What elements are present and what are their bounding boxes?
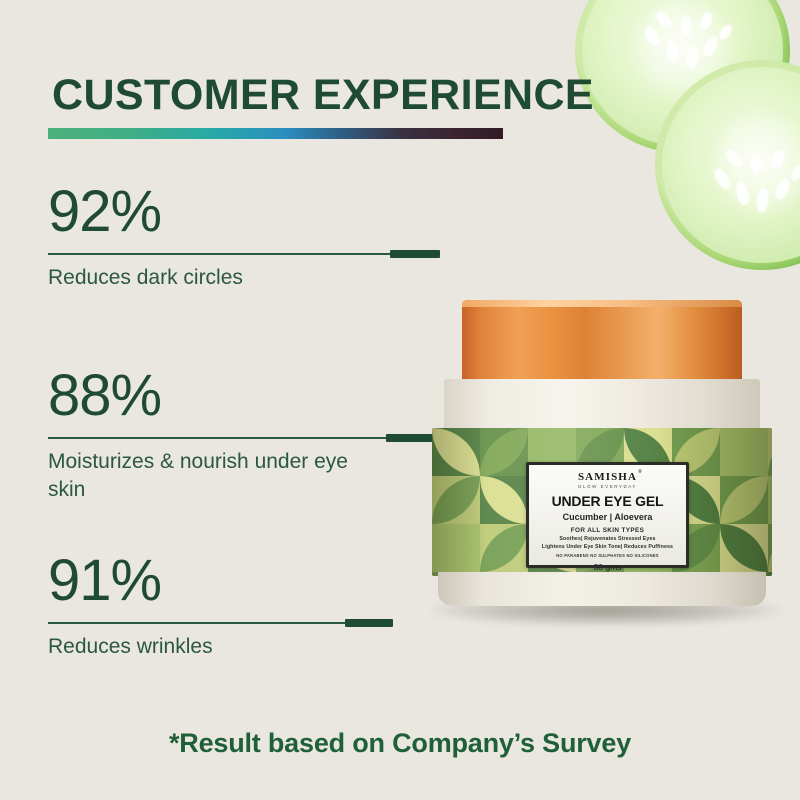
stat-rule	[48, 250, 243, 258]
cucumber-seed	[701, 35, 720, 59]
cucumber-seed	[680, 16, 691, 36]
stat-percent: 88%	[48, 367, 388, 425]
cucumber-seed	[735, 181, 751, 206]
stat-rule-cap	[390, 250, 440, 258]
cucumber-seed	[717, 23, 734, 41]
brand-name: SAMISHA®	[578, 471, 637, 483]
stat-rule-line	[48, 253, 440, 255]
cucumber-seed	[665, 39, 680, 63]
stat-caption: Moisturizes & nourish under eye skin	[48, 448, 388, 504]
stat-block-1: 92% Reduces dark circles	[48, 183, 243, 292]
cucumber-flesh	[582, 0, 783, 146]
stat-percent: 91%	[48, 552, 213, 610]
stat-rule-line	[48, 437, 438, 439]
cucumber-seed	[712, 167, 733, 191]
cucumber-seed	[654, 9, 674, 30]
cucumber-decoration	[540, 0, 800, 310]
jar-body-upper	[444, 379, 760, 431]
cucumber-slice-1-icon	[575, 0, 790, 153]
stat-caption: Reduces wrinkles	[48, 633, 213, 661]
stat-rule	[48, 619, 213, 627]
cucumber-seed	[685, 45, 699, 69]
skin-types-text: FOR ALL SKIN TYPES	[571, 527, 644, 534]
stat-rule-line	[48, 622, 393, 624]
jar-lid	[462, 300, 742, 382]
net-weight: 30 gms	[594, 562, 622, 572]
cucumber-seed	[643, 25, 663, 49]
cucumber-core	[627, 0, 739, 104]
product-jar: SAMISHA® GLOW EVERYDAY UNDER EYE GEL Cuc…	[418, 300, 786, 625]
stat-percent: 92%	[48, 183, 243, 241]
stat-rule	[48, 434, 388, 442]
jar-body-lower	[438, 572, 766, 606]
cucumber-rim	[575, 0, 790, 153]
cucumber-seed	[750, 154, 762, 175]
stat-rule-cap	[345, 619, 393, 627]
title-gradient-divider	[48, 128, 503, 139]
stat-block-3: 91% Reduces wrinkles	[48, 552, 213, 661]
product-label: SAMISHA® GLOW EVERYDAY UNDER EYE GEL Cuc…	[526, 462, 689, 568]
cucumber-seed	[756, 187, 769, 212]
cucumber-core	[707, 110, 800, 219]
cucumber-rim	[655, 60, 800, 270]
cucumber-slice-2-icon	[655, 60, 800, 270]
free-from-claims: NO PARABENS NO SULPHATES NO SILICONES	[556, 553, 659, 558]
stat-caption: Reduces dark circles	[48, 264, 243, 292]
brand-name-text: SAMISHA	[578, 471, 637, 483]
promotional-poster: CUSTOMER EXPERIENCE 92% Reduces dark cir…	[0, 0, 800, 800]
stat-block-2: 88% Moisturizes & nourish under eye skin	[48, 367, 388, 504]
cucumber-seed	[770, 149, 786, 170]
brand-tagline: GLOW EVERYDAY	[578, 484, 637, 489]
page-title: CUSTOMER EXPERIENCE	[52, 71, 594, 120]
survey-disclaimer: *Result based on Company’s Survey	[0, 728, 800, 759]
cucumber-seed	[724, 147, 745, 169]
cucumber-seed	[773, 177, 792, 202]
product-variant: Cucumber | Aloevera	[563, 512, 653, 522]
cucumber-seed	[789, 163, 800, 182]
product-name: UNDER EYE GEL	[552, 493, 664, 509]
benefit-line-2: Lightens Under Eye Skin Tone| Reduces Pu…	[542, 544, 673, 550]
cucumber-flesh	[662, 67, 800, 263]
benefit-line-1: Soothes| Rejuvenates Stressed Eyes	[559, 536, 655, 542]
cucumber-seed	[698, 11, 714, 31]
registered-mark: ®	[638, 470, 643, 475]
